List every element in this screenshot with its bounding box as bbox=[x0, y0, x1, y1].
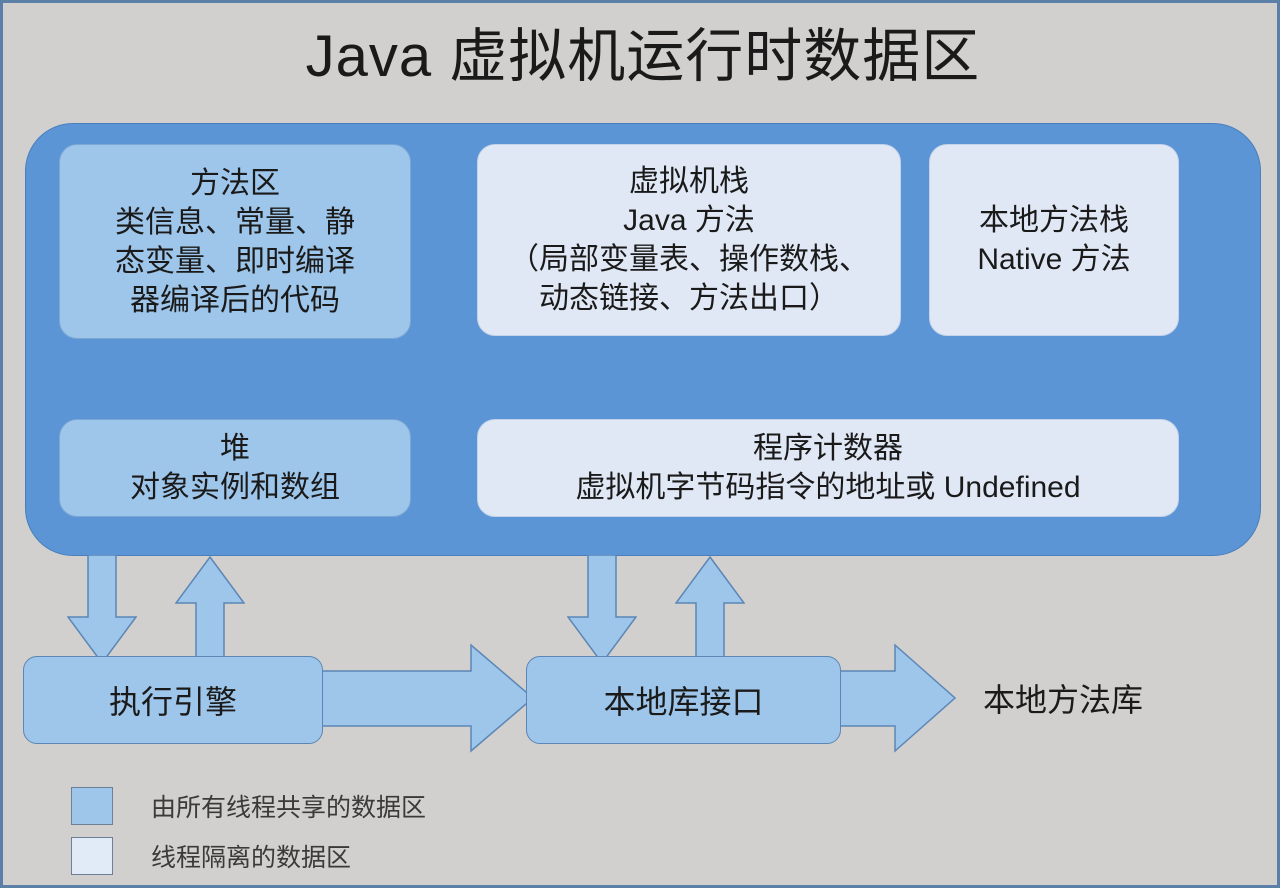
region-vm-stack-line-3: 动态链接、方法出口） bbox=[539, 279, 839, 318]
native-library-label: 本地方法库 bbox=[983, 675, 1143, 721]
region-program-counter[interactable]: 程序计数器 虚拟机字节码指令的地址或 Undefined bbox=[477, 419, 1179, 517]
region-heap-line-1: 对象实例和数组 bbox=[130, 468, 340, 507]
arrow-up-from-execution-engine-icon bbox=[175, 555, 245, 665]
arrow-down-to-execution-engine-icon bbox=[67, 555, 137, 665]
arrow-down-to-native-interface-icon bbox=[567, 555, 637, 665]
legend-label-shared: 由所有线程共享的数据区 bbox=[151, 788, 426, 824]
legend: 由所有线程共享的数据区 线程隔离的数据区 bbox=[71, 785, 426, 885]
region-method-area-line-0: 方法区 bbox=[190, 164, 280, 203]
page-title: Java 虚拟机运行时数据区 bbox=[3, 25, 1280, 89]
region-method-area-line-3: 器编译后的代码 bbox=[130, 281, 340, 320]
region-heap[interactable]: 堆 对象实例和数组 bbox=[59, 419, 411, 517]
region-vm-stack-line-0: 虚拟机栈 bbox=[629, 162, 749, 201]
native-interface-label: 本地库接口 bbox=[603, 677, 763, 723]
region-method-area-line-1: 类信息、常量、静 bbox=[115, 203, 355, 242]
region-vm-stack-line-1: Java 方法 bbox=[623, 201, 755, 240]
region-program-counter-line-1: 虚拟机字节码指令的地址或 Undefined bbox=[575, 468, 1080, 507]
legend-item-isolated: 线程隔离的数据区 bbox=[71, 835, 426, 877]
region-method-area-line-2: 态变量、即时编译 bbox=[115, 242, 355, 281]
arrow-up-from-native-interface-icon bbox=[675, 555, 745, 665]
arrow-execution-engine-to-native-interface-icon bbox=[319, 643, 535, 753]
native-interface-box[interactable]: 本地库接口 bbox=[526, 656, 841, 744]
runtime-data-area-panel: 方法区 类信息、常量、静 态变量、即时编译 器编译后的代码 虚拟机栈 Java … bbox=[25, 123, 1261, 556]
region-native-method-stack-line-1: Native 方法 bbox=[977, 240, 1130, 279]
region-heap-line-0: 堆 bbox=[220, 429, 250, 468]
execution-engine-box[interactable]: 执行引擎 bbox=[23, 656, 323, 744]
region-native-method-stack-line-0: 本地方法栈 bbox=[979, 201, 1129, 240]
legend-swatch-isolated bbox=[71, 837, 113, 875]
region-vm-stack-line-2: （局部变量表、操作数栈、 bbox=[509, 240, 869, 279]
region-method-area[interactable]: 方法区 类信息、常量、静 态变量、即时编译 器编译后的代码 bbox=[59, 144, 411, 339]
legend-label-isolated: 线程隔离的数据区 bbox=[151, 838, 351, 874]
legend-swatch-shared bbox=[71, 787, 113, 825]
diagram-canvas: Java 虚拟机运行时数据区 方法区 类信息、常量、静 态变量、即时编译 器编译… bbox=[0, 0, 1280, 888]
legend-item-shared: 由所有线程共享的数据区 bbox=[71, 785, 426, 827]
region-native-method-stack[interactable]: 本地方法栈 Native 方法 bbox=[929, 144, 1179, 336]
arrow-native-interface-to-native-library-icon bbox=[837, 643, 957, 753]
region-program-counter-line-0: 程序计数器 bbox=[753, 429, 903, 468]
execution-engine-label: 执行引擎 bbox=[109, 677, 237, 723]
region-vm-stack[interactable]: 虚拟机栈 Java 方法 （局部变量表、操作数栈、 动态链接、方法出口） bbox=[477, 144, 901, 336]
